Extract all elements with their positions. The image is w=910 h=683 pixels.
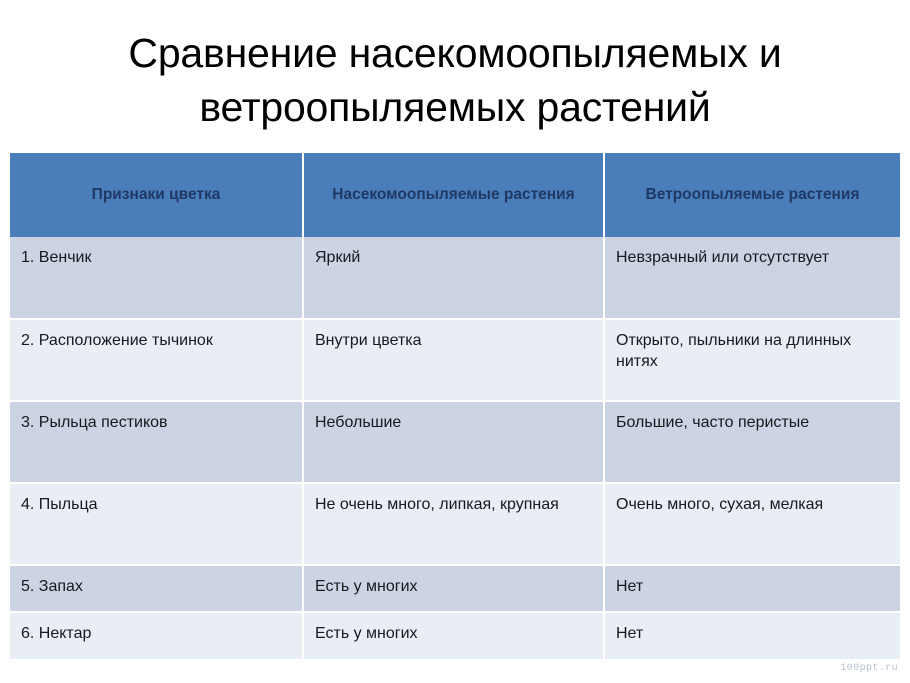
table-row: 3. Рыльца пестиков Небольшие Большие, ча… bbox=[10, 401, 900, 483]
cell-wind: Открыто, пыльники на длинных нитях bbox=[604, 319, 900, 401]
cell-feature: 2. Расположение тычинок bbox=[10, 319, 303, 401]
column-header-insect-pollinated: Насекомоопыляемые растения bbox=[303, 153, 604, 237]
cell-insect: Не очень много, липкая, крупная bbox=[303, 483, 604, 565]
cell-insect: Небольшие bbox=[303, 401, 604, 483]
page-title: Сравнение насекомоопыляемых и ветроопыля… bbox=[0, 0, 910, 134]
cell-feature: 4. Пыльца bbox=[10, 483, 303, 565]
cell-insect: Есть у многих bbox=[303, 612, 604, 659]
table-header: Признаки цветка Насекомоопыляемые растен… bbox=[10, 153, 900, 237]
watermark-label: 100ppt.ru bbox=[840, 663, 898, 674]
column-header-wind-pollinated: Ветроопыляемые растения bbox=[604, 153, 900, 237]
cell-wind: Нет bbox=[604, 565, 900, 612]
cell-wind: Большие, часто перистые bbox=[604, 401, 900, 483]
cell-feature: 5. Запах bbox=[10, 565, 303, 612]
table-row: 5. Запах Есть у многих Нет bbox=[10, 565, 900, 612]
comparison-table: Признаки цветка Насекомоопыляемые растен… bbox=[10, 153, 900, 659]
table-row: 6. Нектар Есть у многих Нет bbox=[10, 612, 900, 659]
comparison-table-container: Признаки цветка Насекомоопыляемые растен… bbox=[10, 153, 900, 659]
cell-feature: 6. Нектар bbox=[10, 612, 303, 659]
cell-wind: Нет bbox=[604, 612, 900, 659]
table-row: 2. Расположение тычинок Внутри цветка От… bbox=[10, 319, 900, 401]
table-row: 4. Пыльца Не очень много, липкая, крупна… bbox=[10, 483, 900, 565]
cell-insect: Внутри цветка bbox=[303, 319, 604, 401]
table-row: 1. Венчик Яркий Невзрачный или отсутству… bbox=[10, 237, 900, 319]
table-body: 1. Венчик Яркий Невзрачный или отсутству… bbox=[10, 237, 900, 659]
cell-wind: Очень много, сухая, мелкая bbox=[604, 483, 900, 565]
cell-insect: Яркий bbox=[303, 237, 604, 319]
cell-insect: Есть у многих bbox=[303, 565, 604, 612]
cell-wind: Невзрачный или отсутствует bbox=[604, 237, 900, 319]
column-header-feature: Признаки цветка bbox=[10, 153, 303, 237]
slide-canvas: Сравнение насекомоопыляемых и ветроопыля… bbox=[0, 0, 910, 683]
table-header-row: Признаки цветка Насекомоопыляемые растен… bbox=[10, 153, 900, 237]
cell-feature: 3. Рыльца пестиков bbox=[10, 401, 303, 483]
cell-feature: 1. Венчик bbox=[10, 237, 303, 319]
